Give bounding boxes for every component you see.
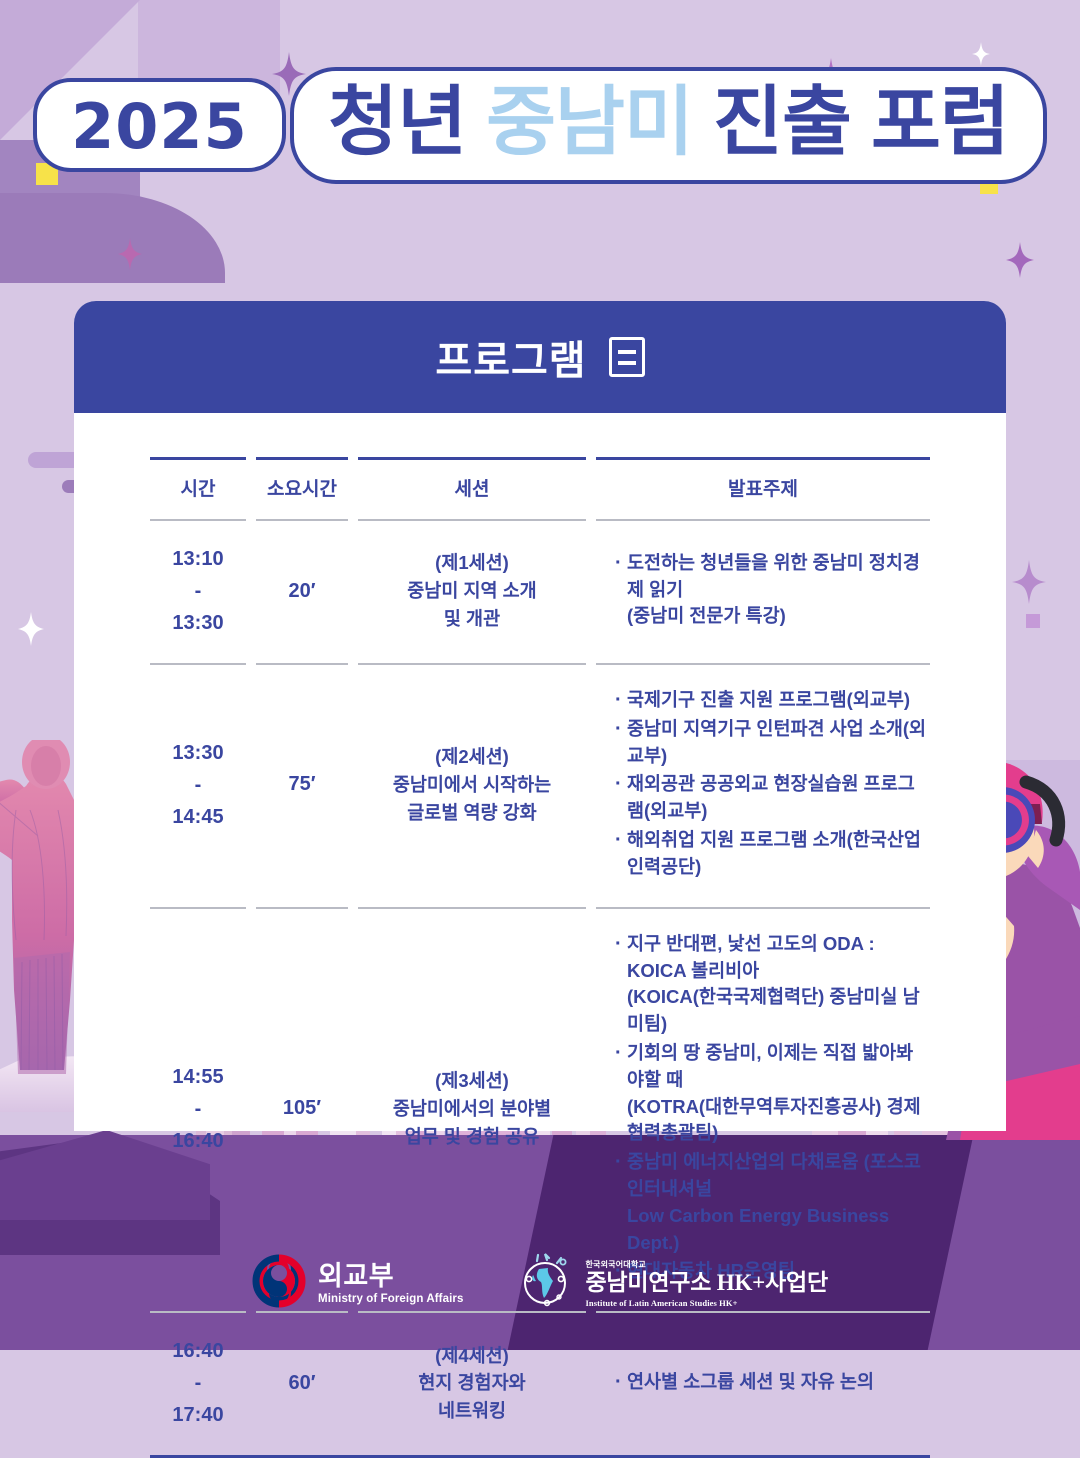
mofa-name-en: Ministry of Foreign Affairs [318,1293,463,1305]
cell-topics: 연사별 소그룹 세션 및 자유 논의 [596,1312,930,1457]
column-gap [246,664,256,908]
table-row: 16:40-17:4060′(제4세션)현지 경험자와네트워킹연사별 소그룹 세… [150,1312,930,1457]
title-main: 청년 중남미 진출 포럼 [290,67,1047,184]
time-start: 16:40 [150,1335,246,1367]
session-line: 현지 경험자와 [358,1369,586,1397]
session-line: 중남미에서 시작하는 [358,771,586,799]
program-card: 프로그램 시간 소요시간 세션 발표주제 13:10-13:3020′(제1세션… [74,301,1006,1131]
cell-session: (제2세션)중남미에서 시작하는글로벌 역량 강화 [358,664,586,908]
cell-session: (제4세션)현지 경험자와네트워킹 [358,1312,586,1457]
cell-time: 16:40-17:40 [150,1312,246,1457]
sparkle-icon [1012,560,1046,604]
sparkle-icon [118,238,142,270]
time-start: 14:55 [150,1061,246,1093]
column-gap [586,459,596,521]
column-header-duration: 소요시간 [256,459,348,521]
column-gap [348,459,358,521]
cell-duration: 105′ [256,908,348,1313]
cell-topics: 도전하는 청년들을 위한 중남미 정치경제 읽기 (중남미 전문가 특강) [596,520,930,664]
program-table-body: 13:10-13:3020′(제1세션)중남미 지역 소개및 개관도전하는 청년… [150,520,930,1457]
program-heading: 프로그램 [435,328,586,386]
list-document-icon [609,337,645,377]
topic-item: 중남미 에너지산업의 다채로움 (포스코인터내셔널 Low Carbon Ene… [614,1149,930,1256]
topic-item: 도전하는 청년들을 위한 중남미 정치경제 읽기 (중남미 전문가 특강) [614,550,930,630]
time-start: 13:10 [150,543,246,575]
cell-topics: 국제기구 진출 지원 프로그램(외교부)중남미 지역기구 인턴파견 사업 소개(… [596,664,930,908]
session-line: 중남미 지역 소개 [358,577,586,605]
cell-session: (제3세션)중남미에서의 분야별업무 및 경험 공유 [358,908,586,1313]
ilas-name-en: Institute of Latin American Studies HK+ [585,1298,827,1308]
column-gap [348,908,358,1313]
topic-item: 재외공관 공공외교 현장실습원 프로그램(외교부) [614,771,930,825]
column-gap [246,459,256,521]
cell-session: (제1세션)중남미 지역 소개및 개관 [358,520,586,664]
column-gap [586,520,596,664]
time-end: 16:40 [150,1125,246,1157]
program-card-header: 프로그램 [74,301,1006,413]
session-line: (제1세션) [358,549,586,577]
ilas-text-block: 한국외국어대학교 중남미연구소 HK+사업단 Institute of Lati… [585,1259,827,1308]
session-line: (제4세션) [358,1342,586,1370]
time-end: 14:45 [150,801,246,833]
taegeuk-icon [252,1254,306,1313]
column-gap [246,520,256,664]
column-gap [348,1312,358,1457]
column-gap [348,520,358,664]
topic-item: 해외취업 지원 프로그램 소개(한국산업인력공단) [614,827,930,881]
time-dash: - [150,769,246,801]
column-gap [246,1312,256,1457]
cell-time: 13:10-13:30 [150,520,246,664]
session-line: 업무 및 경험 공유 [358,1123,586,1151]
column-header-topic: 발표주제 [596,459,930,521]
topic-item: 지구 반대편, 낯선 고도의 ODA : KOICA 볼리비아 (KOICA(한… [614,931,930,1038]
topic-list: 지구 반대편, 낯선 고도의 ODA : KOICA 볼리비아 (KOICA(한… [614,931,930,1286]
mofa-name-ko: 외교부 [318,1262,463,1290]
column-header-session: 세션 [358,459,586,521]
program-table-head: 시간 소요시간 세션 발표주제 [150,459,930,521]
topic-item: 국제기구 진출 지원 프로그램(외교부) [614,687,930,714]
session-line: 글로벌 역량 강화 [358,799,586,827]
topic-list: 국제기구 진출 지원 프로그램(외교부)중남미 지역기구 인턴파견 사업 소개(… [614,687,930,881]
column-gap [348,664,358,908]
session-line: 및 개관 [358,605,586,633]
table-header-row: 시간 소요시간 세션 발표주제 [150,459,930,521]
topic-item: 연사별 소그룹 세션 및 자유 논의 [614,1369,930,1396]
time-end: 17:40 [150,1399,246,1431]
sparkle-icon [1006,242,1034,278]
ilas-university-ko: 한국외국어대학교 [585,1259,827,1270]
table-row: 13:10-13:3020′(제1세션)중남미 지역 소개및 개관도전하는 청년… [150,520,930,664]
time-dash: - [150,575,246,607]
title-segment-youth: 청년 [328,80,486,165]
poster-title: 2025 청년 중남미 진출 포럼 [0,78,1080,184]
cell-duration: 20′ [256,520,348,664]
topic-item: 기회의 땅 중남미, 이제는 직접 밟아봐야할 때 (KOTRA(대한무역투자진… [614,1040,930,1147]
logo-ilas: 한국외국어대학교 중남미연구소 HK+사업단 Institute of Lati… [517,1253,827,1314]
topic-list: 도전하는 청년들을 위한 중남미 정치경제 읽기 (중남미 전문가 특강) [614,550,930,630]
topic-list: 연사별 소그룹 세션 및 자유 논의 [614,1369,930,1396]
column-header-time: 시간 [150,459,246,521]
column-gap [586,664,596,908]
globe-americas-icon [517,1253,573,1314]
cell-duration: 75′ [256,664,348,908]
time-start: 13:30 [150,737,246,769]
ilas-name-ko: 중남미연구소 HK+사업단 [585,1270,827,1296]
decor-wave-left [0,193,225,283]
session-line: (제2세션) [358,743,586,771]
session-line: 네트워킹 [358,1397,586,1425]
decor-square-small [1026,614,1040,628]
title-segment-latam: 중남미 [486,80,693,165]
table-row: 13:30-14:4575′(제2세션)중남미에서 시작하는글로벌 역량 강화국… [150,664,930,908]
time-end: 13:30 [150,607,246,639]
column-gap [586,908,596,1313]
cell-time: 13:30-14:45 [150,664,246,908]
cell-time: 14:55-16:40 [150,908,246,1313]
session-line: (제3세션) [358,1067,586,1095]
column-gap [586,1312,596,1457]
footer-logos: 외교부 Ministry of Foreign Affairs 한국외국어대학교 [0,1253,1080,1314]
mofa-text-block: 외교부 Ministry of Foreign Affairs [318,1262,463,1305]
time-dash: - [150,1093,246,1125]
sparkle-icon [18,612,44,646]
time-dash: - [150,1367,246,1399]
logo-ministry-foreign-affairs: 외교부 Ministry of Foreign Affairs [252,1254,463,1313]
session-line: 중남미에서의 분야별 [358,1095,586,1123]
sparkle-icon [972,42,990,66]
title-segment-forum: 진출 포럼 [693,80,1009,165]
cell-topics: 지구 반대편, 낯선 고도의 ODA : KOICA 볼리비아 (KOICA(한… [596,908,930,1313]
cell-duration: 60′ [256,1312,348,1457]
table-row: 14:55-16:40105′(제3세션)중남미에서의 분야별업무 및 경험 공… [150,908,930,1313]
topic-item: 중남미 지역기구 인턴파견 사업 소개(외교부) [614,716,930,770]
title-year: 2025 [33,78,286,172]
column-gap [246,908,256,1313]
